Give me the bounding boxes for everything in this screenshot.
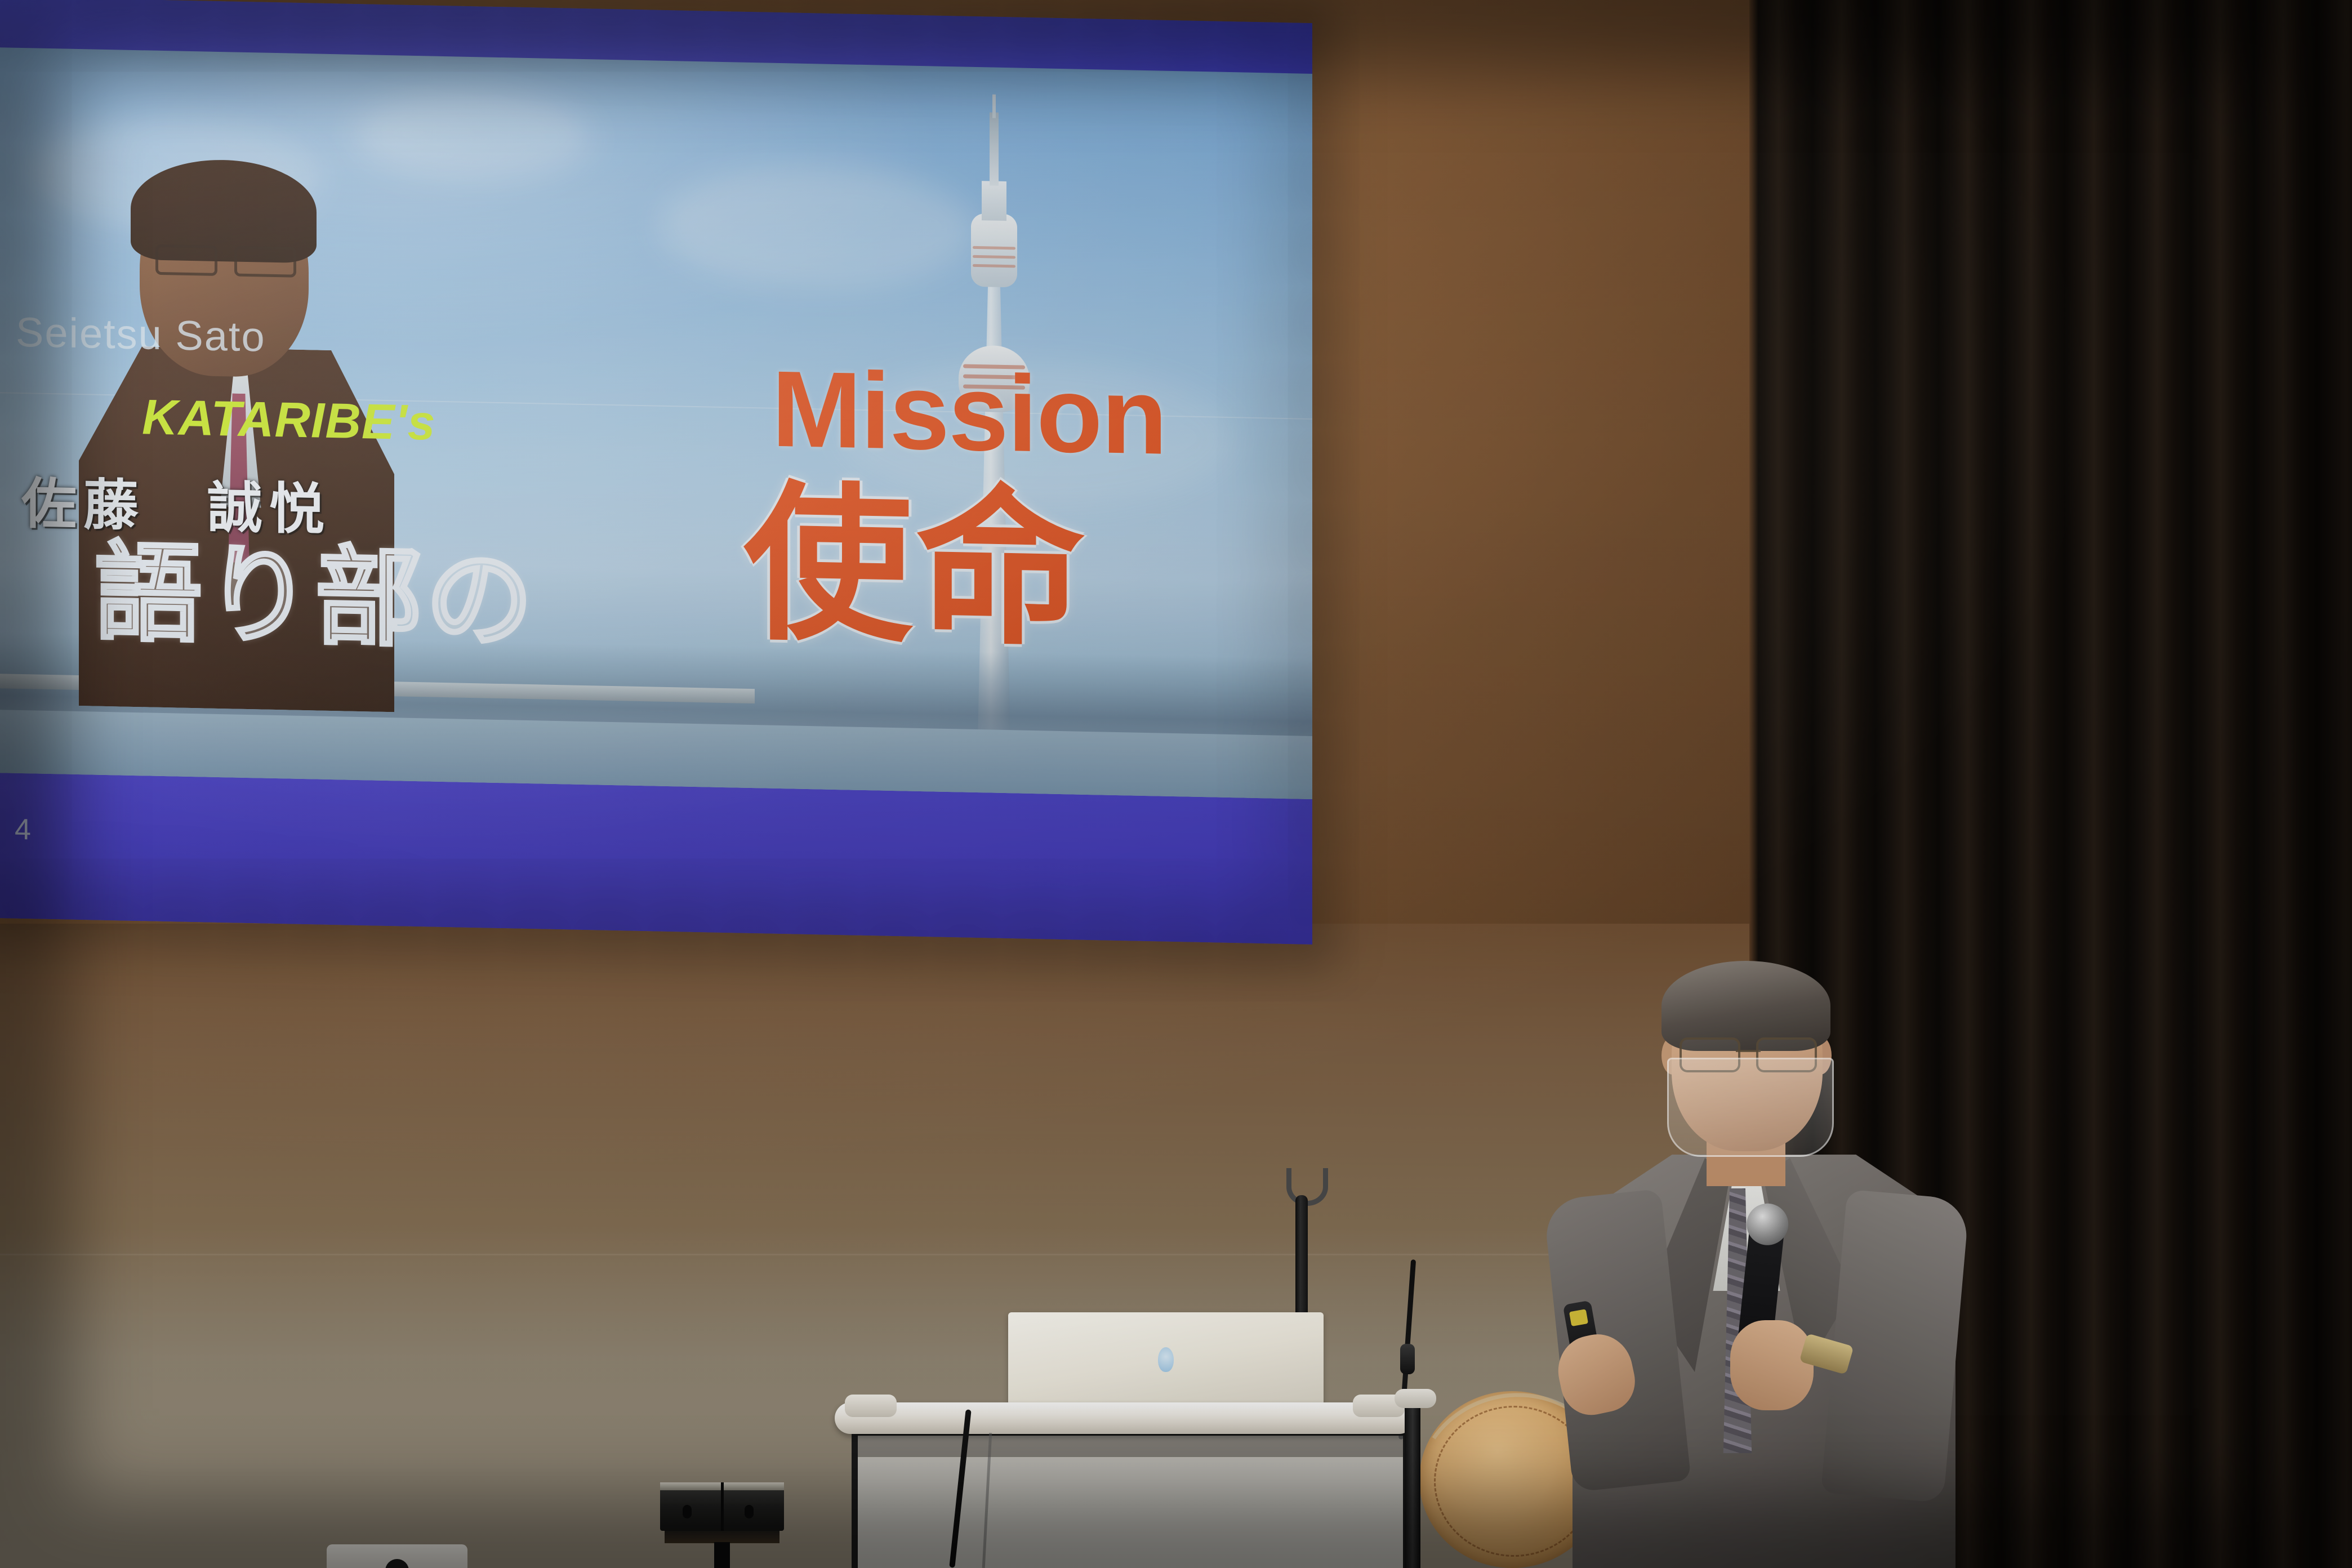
- remote-button-icon: [1569, 1309, 1588, 1326]
- slide-name-japanese: 佐藤 誠悦: [21, 459, 331, 545]
- slide-text-layer: Seietsu Sato KATARIBE's Mission 佐藤 誠悦 語り…: [0, 0, 1312, 945]
- monitor-knob-left: [683, 1505, 692, 1518]
- stage-floor-monitor: [660, 1482, 784, 1568]
- slide-headline-jp-small: 語り部の: [95, 540, 536, 656]
- speaker-face-shield: [1667, 1058, 1834, 1157]
- slide-headline-mission: Mission: [772, 355, 1166, 471]
- laptop-logo-icon: [1158, 1347, 1174, 1372]
- monitor-divider: [721, 1482, 724, 1531]
- projection-screen: Seietsu Sato KATARIBE's Mission 佐藤 誠悦 語り…: [0, 0, 1312, 945]
- slide-name-romaji: Seietsu Sato: [16, 308, 266, 361]
- monitor-base: [665, 1530, 779, 1543]
- slide-headline-english: KATARIBE's: [142, 388, 435, 451]
- slide-headline-jp-large: 使命: [743, 479, 1088, 655]
- speaker-hand-right: [1730, 1320, 1814, 1410]
- monitor-knob-right: [745, 1505, 754, 1518]
- stage-photo: Seietsu Sato KATARIBE's Mission 佐藤 誠悦 語り…: [0, 0, 2352, 1568]
- cable-connector: [1400, 1344, 1415, 1374]
- drum-stand-arm: [1395, 1389, 1436, 1408]
- drum-stand: [1405, 1404, 1420, 1568]
- lectern-podium: [835, 1402, 1415, 1568]
- slide-number: 4: [15, 813, 31, 847]
- podium-rail: [835, 1402, 1415, 1434]
- floor-equipment-knob-icon: [385, 1559, 409, 1568]
- podium-acrylic-panel: [852, 1432, 1409, 1568]
- floor-equipment: [327, 1544, 467, 1568]
- wall-seam-line: [0, 1254, 1735, 1255]
- laptop-computer: [1008, 1312, 1324, 1409]
- speaker-person: [1521, 952, 1983, 1568]
- monitor-pole: [714, 1542, 730, 1568]
- podium-cap-left: [845, 1395, 897, 1417]
